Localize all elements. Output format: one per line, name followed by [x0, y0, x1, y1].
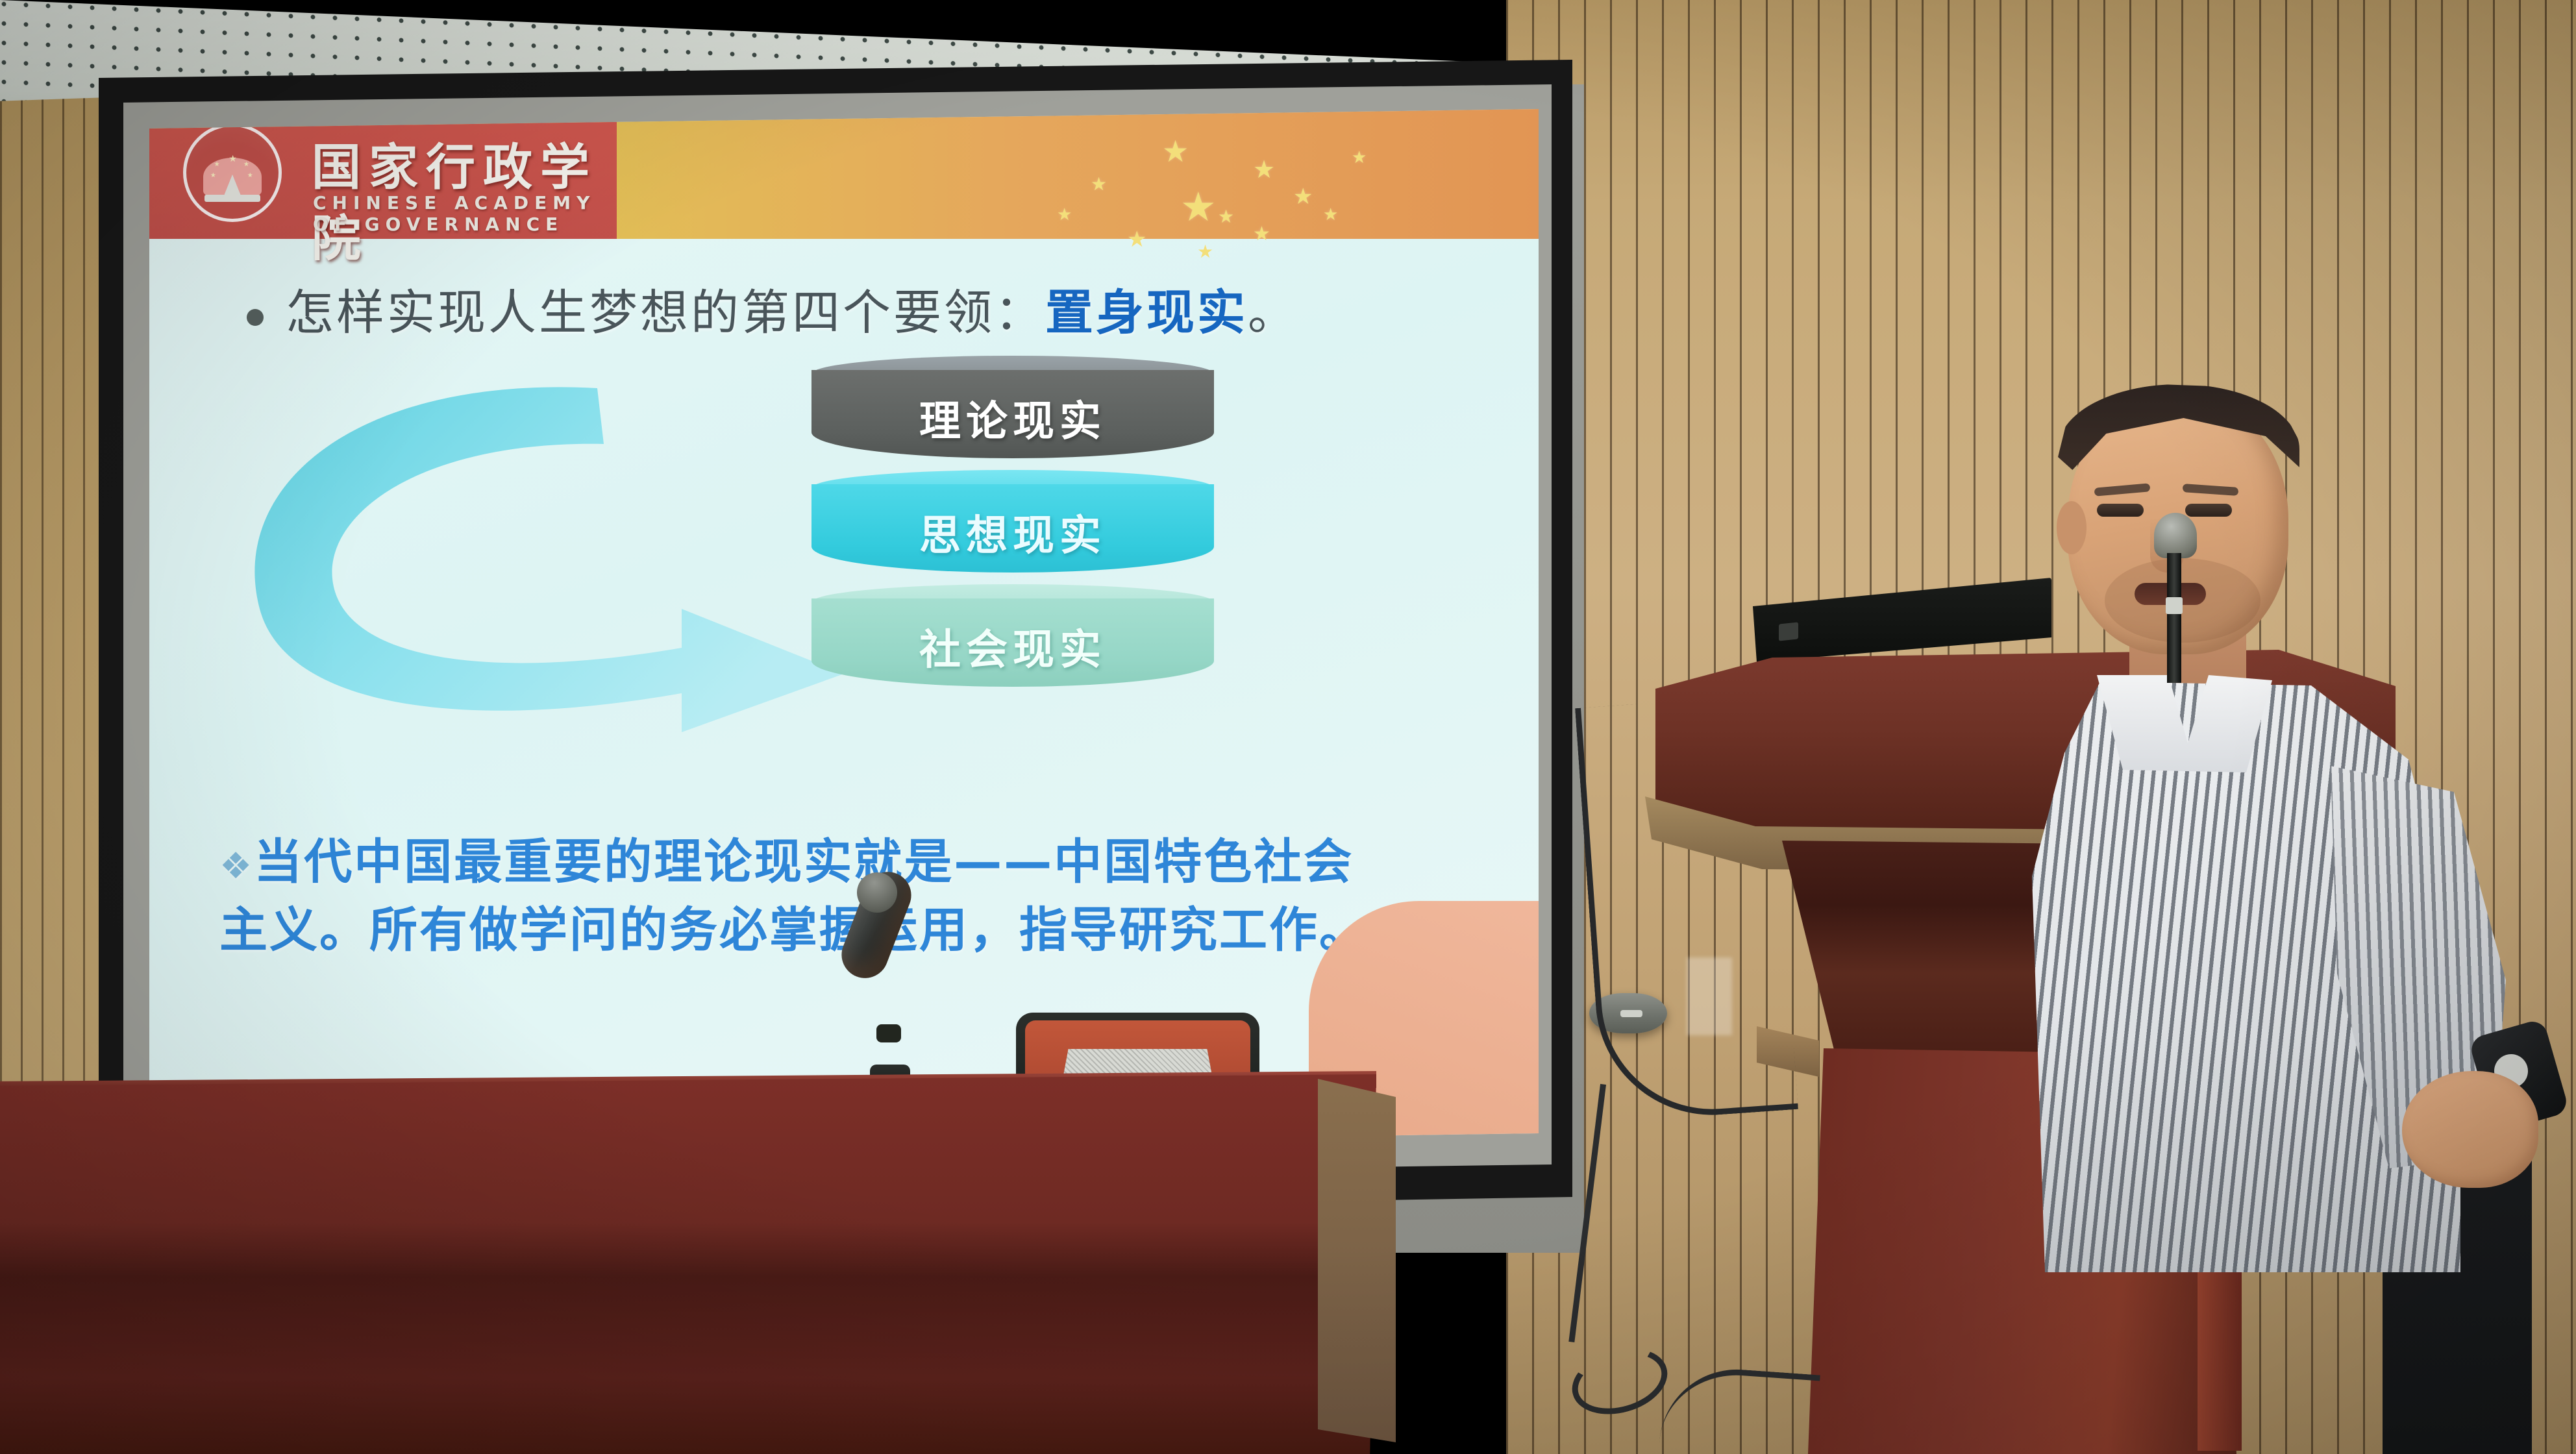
table-microphone[interactable]: [797, 870, 953, 1090]
bullet-text-plain: 怎样实现人生梦想的第四个要领：: [286, 285, 1045, 341]
paragraph-line-2: 主义。所有做学问的务必掌握运用，指导研究工作。: [219, 902, 1369, 958]
cylinder-theoretical-reality: 理论现实: [811, 356, 1214, 460]
laptop-logo-icon: [1779, 622, 1798, 641]
cylinder-ideological-reality: 思想现实: [811, 470, 1214, 574]
star-icon: ★: [1162, 136, 1189, 166]
star-icon: ★: [1323, 206, 1338, 223]
bullet-text-tail: 。: [1248, 285, 1298, 341]
star-icon: ★: [1253, 157, 1275, 182]
slide-bullet-text: 怎样实现人生梦想的第四个要领：置身现实。: [286, 283, 1298, 343]
star-icon: ★: [1180, 187, 1217, 227]
star-icon: ★: [1091, 175, 1107, 193]
star-icon: ★: [1352, 149, 1367, 166]
front-table-side-panel: [1318, 1079, 1396, 1442]
microphone-band: [2166, 597, 2183, 614]
star-icon: ★: [1293, 186, 1313, 208]
presenter-hand: [2402, 1071, 2538, 1188]
bullet-text-accent: 置身现实: [1045, 285, 1248, 341]
cylinder-label: 思想现实: [811, 502, 1214, 562]
star-icon: ★: [1218, 208, 1234, 226]
front-table: [0, 1074, 1376, 1454]
presenter: [1967, 363, 2486, 1272]
lecture-hall-scene: ★★★★★★★★★★★★★★ ★ ★ ★ ★ ★ 国家行政学院 CHINESE …: [0, 0, 2576, 1454]
org-name-english: CHINESE ACADEMY OF GOVERNANCE: [313, 192, 617, 235]
cylinder-stack: 理论现实 思想现实 社会现实: [811, 356, 1214, 719]
cylinder-label: 社会现实: [811, 617, 1214, 676]
bullet-dot-icon: [247, 309, 264, 326]
handheld-microphone[interactable]: [2129, 513, 2220, 818]
star-icon: ★: [1197, 243, 1213, 261]
table-mic-stem: [883, 967, 894, 1079]
microphone-shaft: [2167, 553, 2181, 683]
cylinder-label: 理论现实: [811, 388, 1214, 448]
slide-header-red-block: ★ ★ ★ ★ ★ 国家行政学院 CHINESE ACADEMY OF GOVE…: [149, 109, 617, 239]
presenter-ear: [2057, 501, 2087, 554]
table-mic-joint: [876, 1024, 901, 1042]
star-icon: ★: [1057, 206, 1072, 223]
star-icon: ★: [1127, 228, 1146, 251]
microphone-grille-icon: [2154, 513, 2197, 558]
star-icon: ★: [1253, 225, 1270, 244]
national-emblem-icon: ★ ★ ★ ★ ★: [183, 123, 282, 222]
cylinder-social-reality: 社会现实: [811, 584, 1214, 688]
slide-bullet-row: 怎样实现人生梦想的第四个要领：置身现实。: [247, 283, 1448, 343]
diamond-bullet-icon: ❖: [219, 845, 254, 887]
